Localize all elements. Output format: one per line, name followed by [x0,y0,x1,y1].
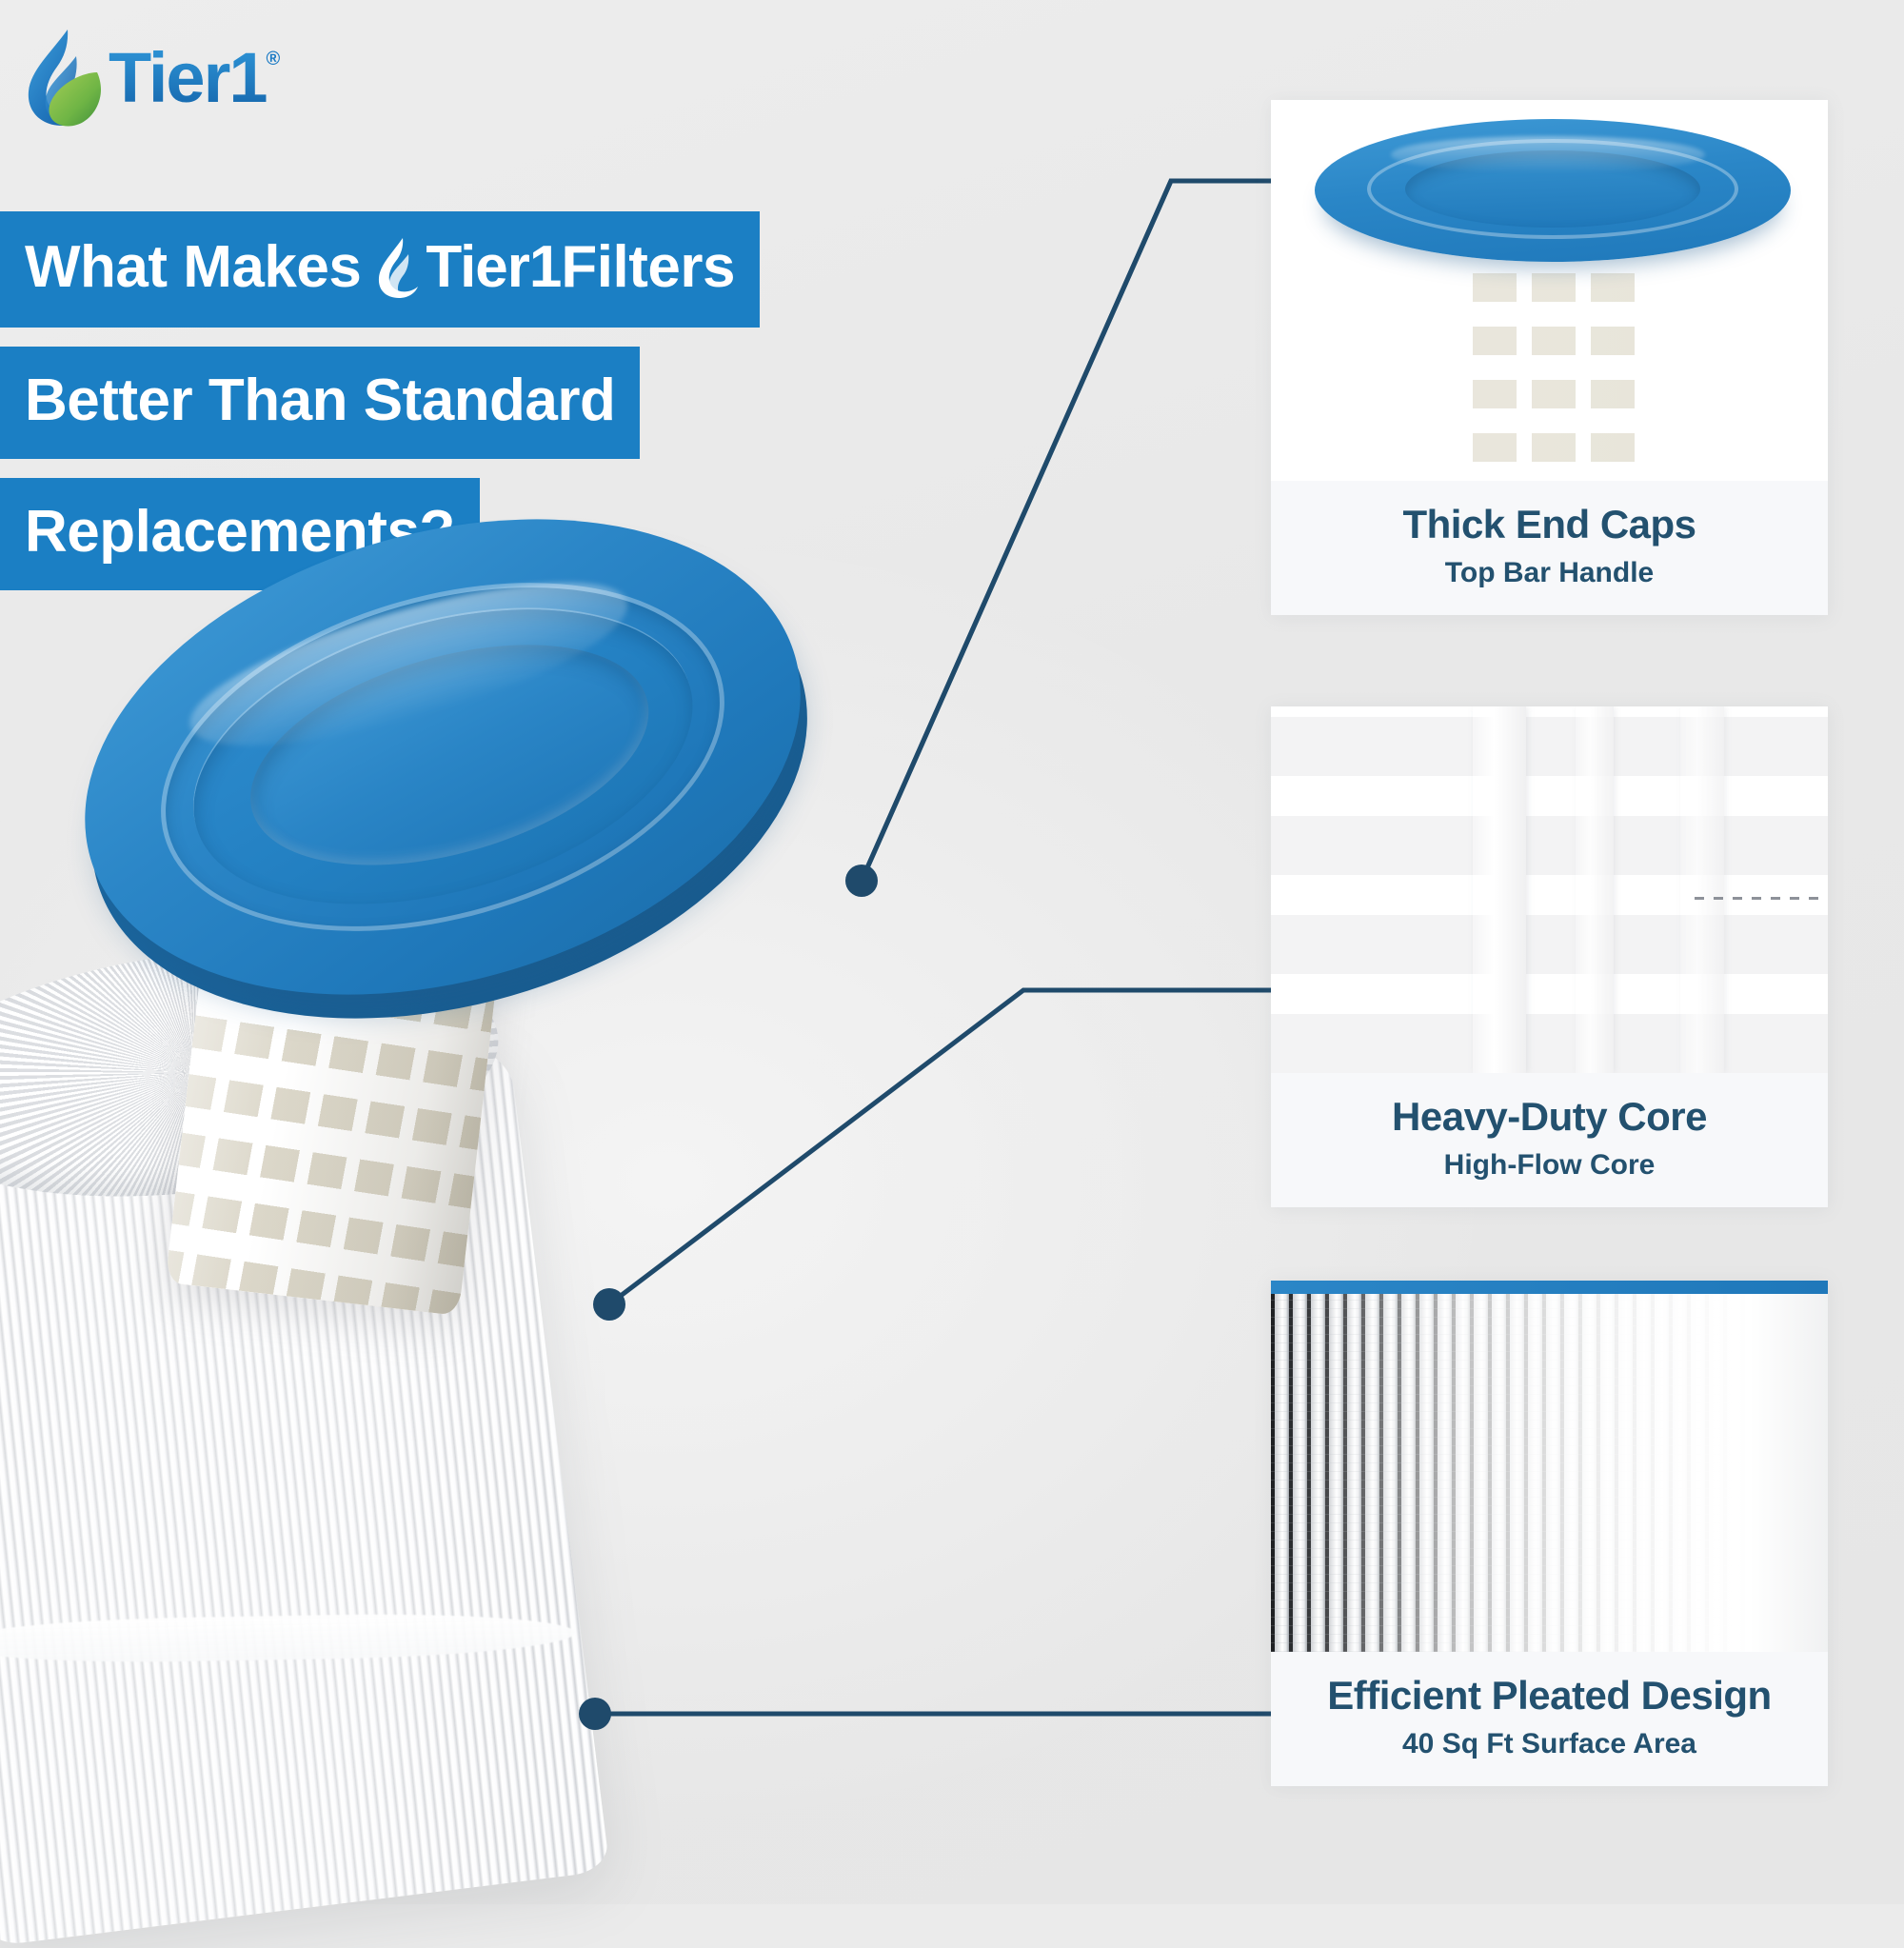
card2-caption: Heavy-Duty Core High-Flow Core [1271,1073,1828,1207]
end-cap-closeup-photo [1271,100,1828,481]
card2-slot-rows [1271,706,1828,1073]
card1-title: Thick End Caps [1284,502,1815,547]
callout-card-thick-end-caps[interactable]: Thick End Caps Top Bar Handle [1271,100,1828,615]
end-cap-disc [29,441,857,1073]
card1-subtitle: Top Bar Handle [1284,556,1815,590]
headline-line1-before: What Makes [25,238,361,297]
water-drop-leaf-logo-icon [21,27,103,129]
pleated-media-photo [1271,1281,1828,1652]
card1-core [1458,233,1648,462]
card2-rib-right-a [1576,706,1614,1073]
logo-wordmark: Tier1 ® [109,43,280,113]
callout-card-heavy-duty-core[interactable]: Heavy-Duty Core High-Flow Core [1271,706,1828,1207]
headline-line1-brand: Tier1 [426,238,561,297]
headline-line1-after: Filters [561,238,735,297]
card3-caption: Efficient Pleated Design 40 Sq Ft Surfac… [1271,1652,1828,1786]
card3-subtitle: 40 Sq Ft Surface Area [1284,1727,1815,1761]
brand-logo: Tier1 ® [21,27,280,129]
card1-end-cap [1315,119,1791,262]
card2-title: Heavy-Duty Core [1284,1094,1815,1139]
water-drop-logo-white-icon [374,236,424,299]
card1-core-cols [1458,233,1648,462]
logo-text: Tier1 [109,43,267,113]
blue-end-cap [29,441,857,1073]
infographic-canvas: Tier1 ® What Makes Tier1 Filters Better … [0,0,1904,1904]
card3-title: Efficient Pleated Design [1284,1673,1815,1718]
card1-caption: Thick End Caps Top Bar Handle [1271,481,1828,615]
card2-rib-center [1473,706,1526,1073]
headline-line2-text: Better Than Standard [0,347,640,459]
callout-card-efficient-pleated-design[interactable]: Efficient Pleated Design 40 Sq Ft Surfac… [1271,1281,1828,1786]
card3-blue-end-strip [1271,1281,1828,1294]
core-macro-photo [1271,706,1828,1073]
headline-line-2: Better Than Standard [0,347,1009,459]
headline-line-1: What Makes Tier1 Filters [0,211,1009,328]
card2-rib-right-b [1680,706,1724,1073]
registered-mark: ® [267,49,281,70]
product-illustration [0,533,971,1923]
card1-end-cap-highlight [1391,136,1705,173]
card2-subtitle: High-Flow Core [1284,1148,1815,1183]
card2-dashed-marker [1695,897,1818,900]
card3-light-falloff [1271,1294,1828,1652]
